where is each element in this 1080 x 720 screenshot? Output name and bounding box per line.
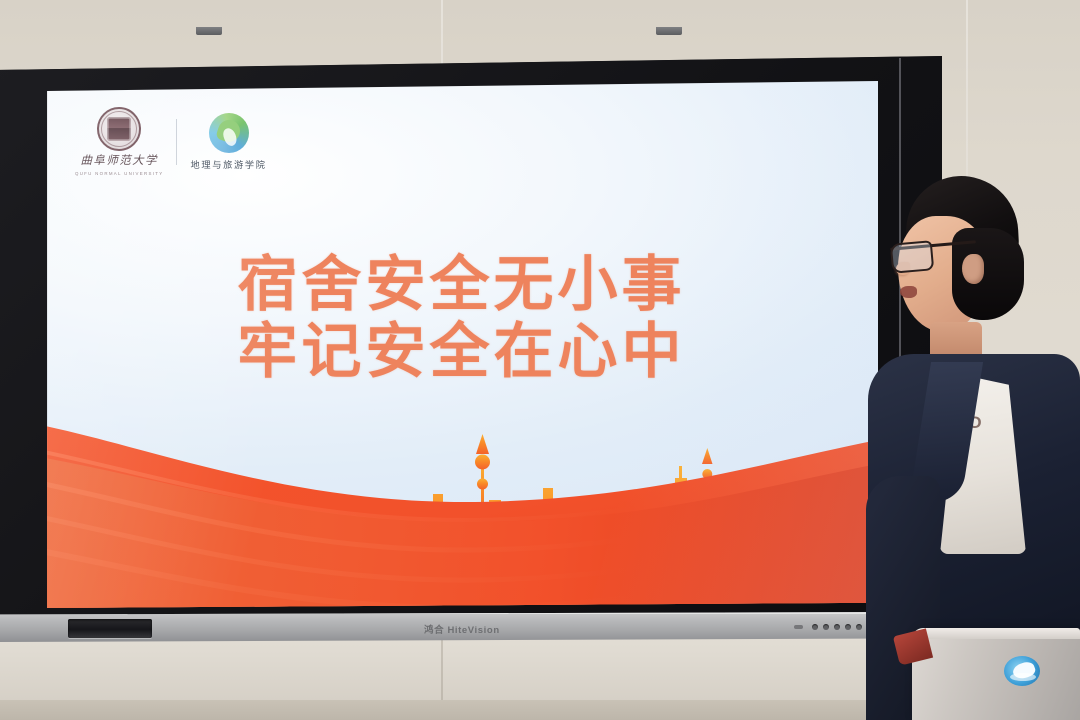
- wall-mount-bracket: [196, 27, 222, 35]
- globe-leaf-icon: [209, 113, 249, 153]
- display-bottom-bar: 鸿合 HiteVision: [0, 612, 912, 642]
- lectern-side-accent: [893, 628, 933, 665]
- port-dot[interactable]: [834, 624, 840, 630]
- presenter-mouth: [900, 286, 917, 298]
- lectern[interactable]: [912, 628, 1080, 720]
- wall-mount-bracket: [656, 27, 682, 35]
- display-brand-label: 鸿合 HiteVision: [424, 622, 500, 636]
- school-name-cn: 地理与旅游学院: [190, 157, 266, 171]
- university-logo: 曲阜师范大学 QUFU NORMAL UNIVERSITY: [75, 107, 163, 176]
- university-crest-icon: [97, 107, 141, 151]
- school-logo: 地理与旅游学院: [190, 113, 266, 171]
- slide-title-line-2: 牢记安全在心中: [45, 318, 878, 385]
- classroom-scene: 曲阜师范大学 QUFU NORMAL UNIVERSITY 地理与旅游学院 宿舍…: [0, 0, 1080, 720]
- presentation-slide: 曲阜师范大学 QUFU NORMAL UNIVERSITY 地理与旅游学院 宿舍…: [45, 81, 878, 608]
- display-screen[interactable]: 曲阜师范大学 QUFU NORMAL UNIVERSITY 地理与旅游学院 宿舍…: [45, 81, 878, 608]
- pen-tray-slot[interactable]: [68, 619, 152, 638]
- port-dot[interactable]: [845, 624, 851, 630]
- lectern-emblem-icon: [1004, 656, 1040, 686]
- slide-header: 曲阜师范大学 QUFU NORMAL UNIVERSITY 地理与旅游学院: [75, 107, 267, 176]
- university-name-cn: 曲阜师范大学: [81, 155, 158, 167]
- presenter-ear: [962, 254, 984, 284]
- university-name-en: QUFU NORMAL UNIVERSITY: [75, 171, 163, 176]
- port-dot[interactable]: [823, 624, 829, 630]
- glasses-lens: [890, 240, 934, 274]
- lectern-top-surface: [912, 628, 1080, 639]
- slide-title-line-1: 宿舍安全无小事: [45, 251, 878, 318]
- slide-title: 宿舍安全无小事 牢记安全在心中: [45, 251, 878, 385]
- skyline-wave-artwork: [45, 418, 878, 608]
- ir-sensor-icon: [794, 625, 803, 629]
- port-dot[interactable]: [812, 624, 818, 630]
- logo-divider: [176, 119, 177, 165]
